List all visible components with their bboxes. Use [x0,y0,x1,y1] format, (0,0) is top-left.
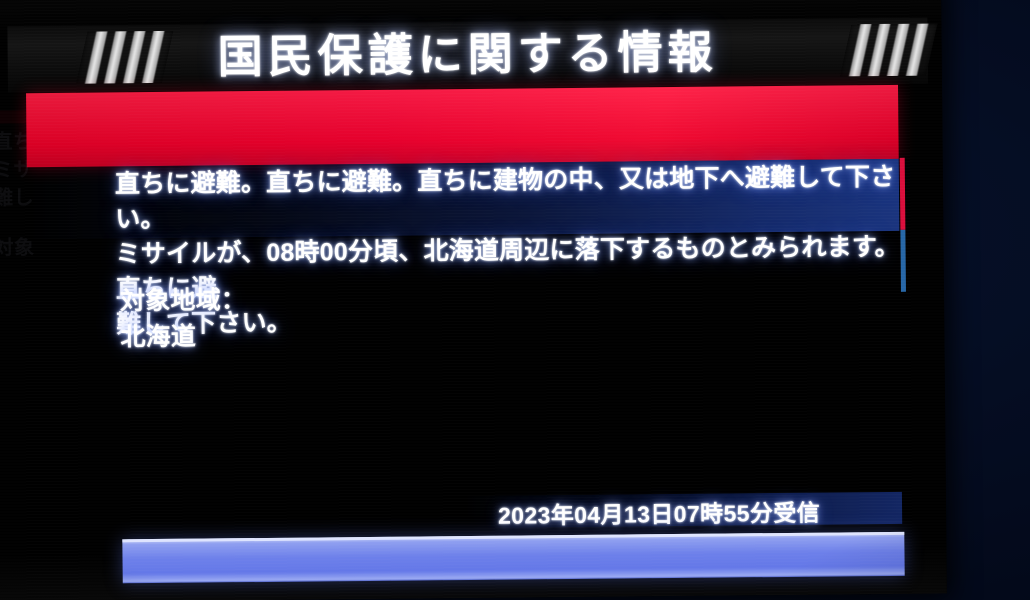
bottom-ticker-bar [122,532,904,584]
screenshot-stage: 直ち ミサ 難し 対象 北海 国民保護に関する情報 直ちに避難。直ちに避難。直ち… [0,0,1030,600]
screen-edge-sliver-blue [900,230,906,292]
red-alert-banner [26,85,899,167]
alert-title-bar: 国民保護に関する情報 [7,18,928,93]
screen-surface: 直ち ミサ 難し 対象 北海 国民保護に関する情報 直ちに避難。直ちに避難。直ち… [0,0,947,600]
screen-edge-sliver-red [900,158,906,230]
tv-screen-panel: 直ち ミサ 難し 対象 北海 国民保護に関する情報 直ちに避難。直ちに避難。直ち… [0,0,947,600]
target-region-value: 北海道 [120,318,246,355]
target-region-block: 対象地域： 北海道 [120,282,247,355]
target-region-label: 対象地域： [120,282,246,319]
page-title: 国民保護に関する情報 [7,22,928,89]
received-timestamp: 2023年04月13日07時55分受信 [498,494,820,531]
